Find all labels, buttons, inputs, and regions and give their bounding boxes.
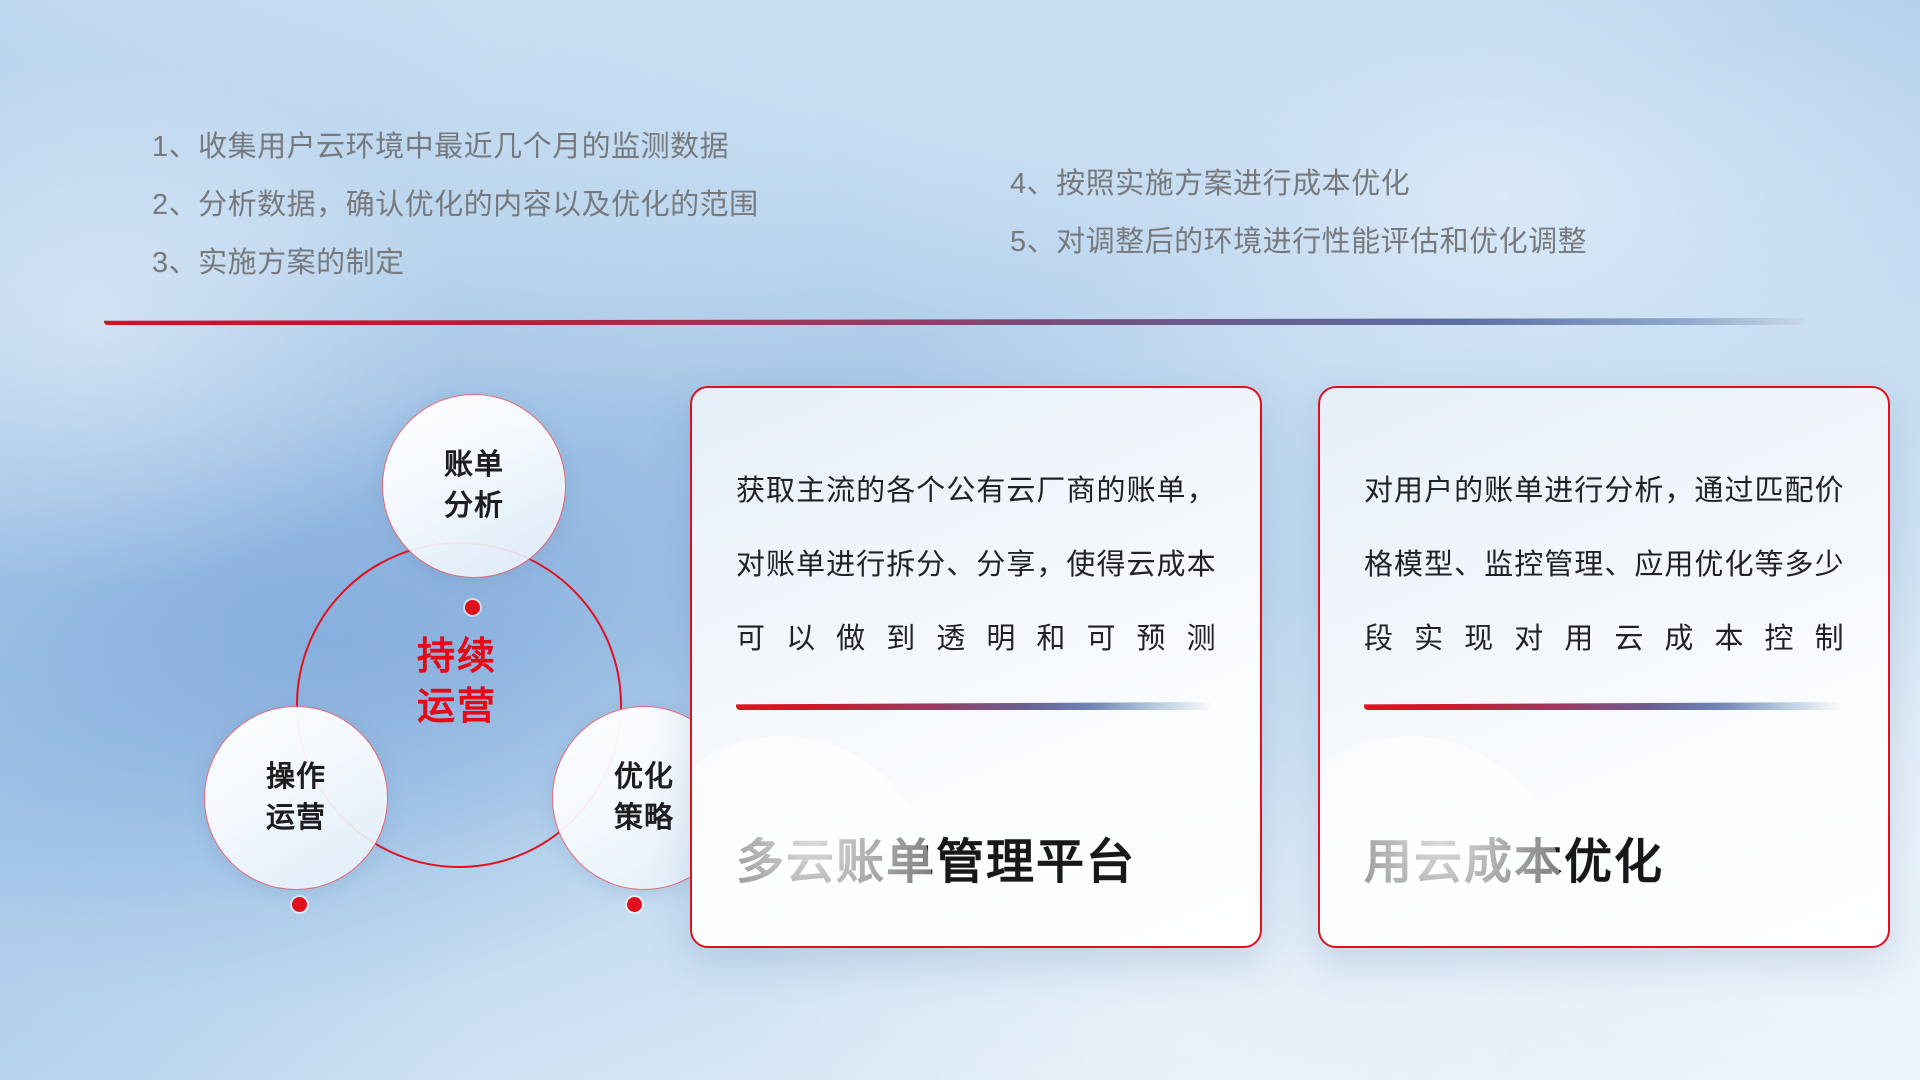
node-line-2: 分析: [444, 486, 504, 527]
node-label-operations: 操作 运营: [266, 757, 326, 839]
node-line-1: 操作: [266, 757, 326, 798]
card-divider-rule: [736, 702, 1216, 710]
continuous-operations-diagram: 持续 运营 账单 分析 操作 运营 优化 策略: [100, 356, 660, 948]
step-item-1: 1、收集用户云环境中最近几个月的监测数据: [152, 118, 759, 176]
card-description: 对用户的账单进行分析，通过匹配价格模型、监控管理、应用优化等多少段实现对用云成本…: [1364, 454, 1844, 676]
node-line-2: 运营: [266, 798, 326, 839]
diagram-center-label: 持续 运营: [296, 632, 618, 732]
process-steps: 1、收集用户云环境中最近几个月的监测数据 2、分析数据，确认优化的内容以及优化的…: [0, 0, 1920, 300]
step-item-4: 4、按照实施方案进行成本优化: [1010, 155, 1587, 213]
card-divider-rule: [1364, 702, 1844, 710]
node-line-1: 账单: [444, 445, 504, 486]
diagram-connector-dot-right: [627, 897, 642, 912]
card-body: 获取主流的各个公有云厂商的账单，对账单进行拆分、分享，使得云成本可以做到透明和可…: [692, 388, 1260, 676]
feature-cards: 获取主流的各个公有云厂商的账单，对账单进行拆分、分享，使得云成本可以做到透明和可…: [690, 386, 1890, 946]
step-item-3: 3、实施方案的制定: [152, 234, 759, 292]
card-description: 获取主流的各个公有云厂商的账单，对账单进行拆分、分享，使得云成本可以做到透明和可…: [736, 454, 1216, 676]
center-label-line-1: 持续: [296, 632, 618, 682]
node-label-optimization-strategy: 优化 策略: [614, 757, 674, 839]
diagram-node-billing-analysis[interactable]: 账单 分析: [382, 394, 566, 578]
card-cloud-cost-optimization[interactable]: 对用户的账单进行分析，通过匹配价格模型、监控管理、应用优化等多少段实现对用云成本…: [1318, 386, 1890, 948]
steps-right-column: 4、按照实施方案进行成本优化 5、对调整后的环境进行性能评估和优化调整: [1010, 155, 1587, 271]
node-line-1: 优化: [614, 757, 674, 798]
step-item-5: 5、对调整后的环境进行性能评估和优化调整: [1010, 213, 1587, 271]
diagram-connector-dot-left: [292, 897, 307, 912]
step-item-2: 2、分析数据，确认优化的内容以及优化的范围: [152, 176, 759, 234]
card-corner-decoration: [690, 736, 932, 948]
diagram-node-operations[interactable]: 操作 运营: [204, 706, 388, 890]
node-line-2: 策略: [614, 798, 674, 839]
card-multi-cloud-billing-platform[interactable]: 获取主流的各个公有云厂商的账单，对账单进行拆分、分享，使得云成本可以做到透明和可…: [690, 386, 1262, 948]
card-corner-decoration: [1318, 736, 1560, 948]
card-body: 对用户的账单进行分析，通过匹配价格模型、监控管理、应用优化等多少段实现对用云成本…: [1320, 388, 1888, 676]
diagram-connector-dot-top: [465, 600, 480, 615]
node-label-billing-analysis: 账单 分析: [444, 445, 504, 527]
steps-left-column: 1、收集用户云环境中最近几个月的监测数据 2、分析数据，确认优化的内容以及优化的…: [152, 118, 759, 292]
